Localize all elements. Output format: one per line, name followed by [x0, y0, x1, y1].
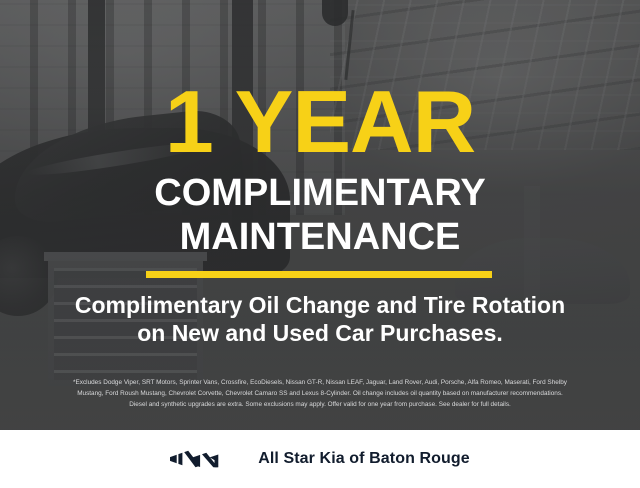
disclaimer-line-3: Diesel and synthetic upgrades are extra.…	[14, 399, 626, 410]
yellow-divider-rule	[146, 271, 492, 278]
headline-year: 1 YEAR	[0, 78, 640, 166]
headline-complimentary: COMPLIMENTARY	[0, 174, 640, 212]
offer-description-line-1: Complimentary Oil Change and Tire Rotati…	[0, 292, 640, 319]
dealer-name: All Star Kia of Baton Rouge	[258, 450, 470, 468]
headline-maintenance: MAINTENANCE	[0, 218, 640, 256]
disclaimer-line-1: *Excludes Dodge Viper, SRT Motors, Sprin…	[14, 377, 626, 388]
offer-description-line-2: on New and Used Car Purchases.	[0, 320, 640, 347]
brand-lockup: All Star Kia of Baton Rouge	[170, 450, 470, 468]
maintenance-promo-banner: 1 YEAR COMPLIMENTARY MAINTENANCE Complim…	[0, 0, 640, 488]
kia-logo	[170, 450, 236, 468]
hero-section: 1 YEAR COMPLIMENTARY MAINTENANCE Complim…	[0, 0, 640, 430]
promo-copy: 1 YEAR COMPLIMENTARY MAINTENANCE Complim…	[0, 0, 640, 430]
disclaimer-text: *Excludes Dodge Viper, SRT Motors, Sprin…	[14, 377, 626, 410]
disclaimer-line-2: Mustang, Ford Roush Mustang, Chevrolet C…	[14, 388, 626, 399]
footer-bar: All Star Kia of Baton Rouge	[0, 430, 640, 488]
